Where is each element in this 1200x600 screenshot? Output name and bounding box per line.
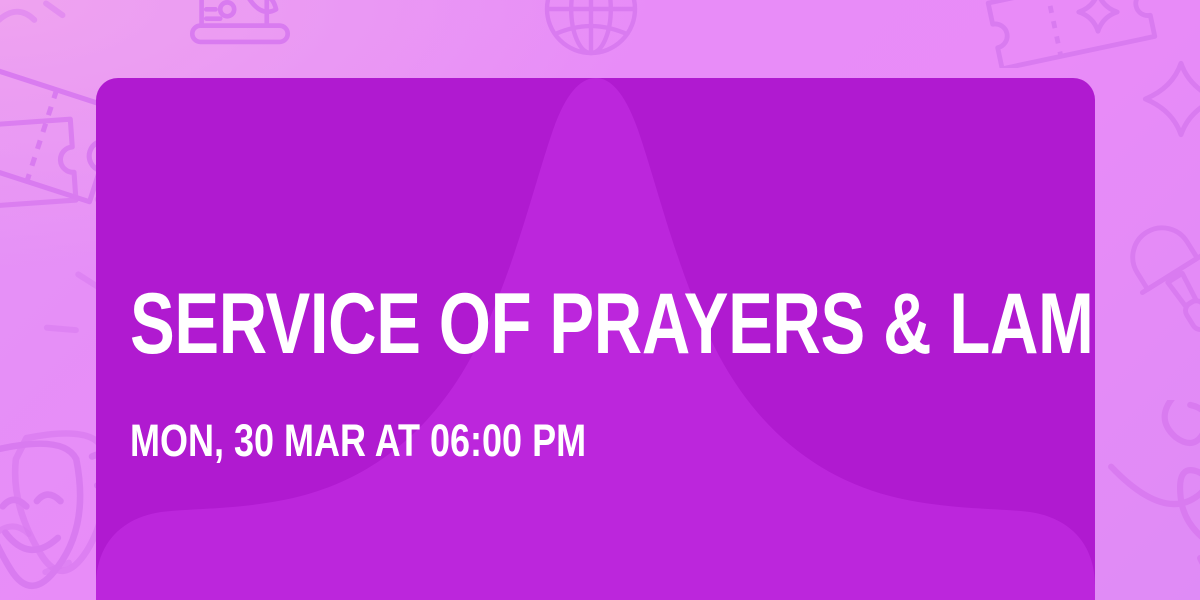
sparkle-icon bbox=[1138, 56, 1200, 142]
event-card-content: SERVICE OF PRAYERS & LAMENT MON, 30 MAR … bbox=[130, 78, 1095, 600]
event-banner: SERVICE OF PRAYERS & LAMENT MON, 30 MAR … bbox=[0, 0, 1200, 600]
confetti-icon bbox=[0, 0, 84, 74]
event-title: SERVICE OF PRAYERS & LAMENT bbox=[130, 284, 848, 366]
event-datetime: MON, 30 MAR AT 06:00 PM bbox=[130, 418, 738, 463]
microphone-icon bbox=[1122, 216, 1200, 346]
sparkle-icon bbox=[1074, 0, 1122, 36]
ticket-icon bbox=[974, 0, 1164, 68]
confetti-icon bbox=[0, 520, 110, 600]
event-card: SERVICE OF PRAYERS & LAMENT MON, 30 MAR … bbox=[96, 78, 1095, 600]
gramophone-icon bbox=[176, 0, 304, 70]
globe-icon bbox=[536, 0, 646, 64]
